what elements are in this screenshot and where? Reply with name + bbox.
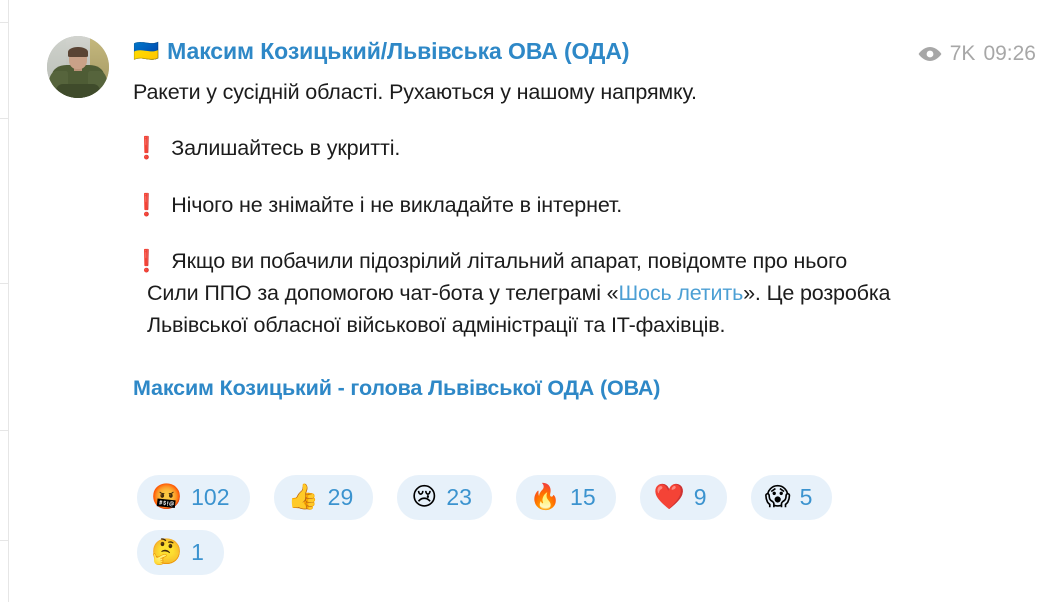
- post-signature: Максим Козицький - голова Львівської ОДА…: [133, 376, 893, 401]
- reaction-crying-face[interactable]: 😢 23: [397, 475, 492, 520]
- reaction-screaming-face[interactable]: 😱 5: [751, 475, 833, 520]
- reactions-bar: 🤬 102 👍 29 😢 23 🔥 15 ❤️ 9 😱 5 🤔 1: [137, 475, 937, 575]
- screaming-face-icon: 😱: [765, 485, 791, 510]
- rail-tick: [0, 283, 9, 284]
- reaction-count: 102: [191, 484, 229, 511]
- post-body: Ракети у сусідній області. Рухаються у н…: [133, 76, 893, 342]
- body-bullet-1-text: Залишайтесь в укритті.: [171, 136, 400, 160]
- avatar[interactable]: [47, 36, 109, 98]
- thumbs-up-icon: 👍: [288, 485, 319, 510]
- reaction-count: 29: [328, 484, 354, 511]
- reaction-count: 23: [446, 484, 472, 511]
- reaction-thumbs-up[interactable]: 👍 29: [274, 475, 374, 520]
- body-bullet-2: ❗ Нічого не знімайте і не викладайте в і…: [133, 189, 893, 221]
- cursing-face-icon: 🤬: [151, 485, 182, 510]
- body-bullet-2-text: Нічого не знімайте і не викладайте в інт…: [171, 193, 622, 217]
- thinking-face-icon: 🤔: [151, 540, 182, 565]
- spacer: [133, 165, 893, 189]
- reaction-cursing-face[interactable]: 🤬 102: [137, 475, 250, 520]
- avatar-hair: [68, 47, 88, 57]
- chatbot-link[interactable]: Шось летить: [618, 281, 743, 305]
- rail-tick: [0, 430, 9, 431]
- reaction-thinking-face[interactable]: 🤔 1: [137, 530, 224, 575]
- reaction-fire[interactable]: 🔥 15: [516, 475, 616, 520]
- rail-tick: [0, 118, 9, 119]
- rail-tick: [0, 540, 9, 541]
- reaction-count: 15: [570, 484, 596, 511]
- view-count: 7K: [950, 42, 976, 66]
- post-time: 09:26: [983, 42, 1036, 66]
- reaction-count: 5: [800, 484, 813, 511]
- message-post-screenshot: 7K 09:26 🇺🇦 Максим Козицький/Львівська О…: [0, 0, 1064, 602]
- post-meta: 7K 09:26: [918, 42, 1036, 66]
- reaction-count: 1: [191, 539, 204, 566]
- fire-icon: 🔥: [530, 485, 561, 510]
- spacer: [133, 221, 893, 245]
- exclamation-icon: ❗: [133, 136, 160, 160]
- body-line-intro: Ракети у сусідній області. Рухаються у н…: [133, 76, 893, 108]
- rail-tick: [0, 22, 9, 23]
- post-content: 🇺🇦 Максим Козицький/Львівська ОВА (ОДА) …: [133, 36, 893, 401]
- channel-name: Максим Козицький/Львівська ОВА (ОДА): [167, 38, 629, 65]
- avatar-arms: [56, 84, 101, 98]
- exclamation-icon: ❗: [133, 249, 160, 273]
- exclamation-icon: ❗: [133, 193, 160, 217]
- ukraine-flag-icon: 🇺🇦: [133, 41, 159, 62]
- crying-face-icon: 😢: [411, 485, 437, 510]
- spacer: [133, 108, 893, 132]
- eye-icon: [918, 46, 942, 62]
- scroll-rail[interactable]: [8, 0, 9, 602]
- reaction-red-heart[interactable]: ❤️ 9: [640, 475, 727, 520]
- reaction-count: 9: [694, 484, 707, 511]
- body-bullet-3: ❗ Якщо ви побачили підозрілий літальний …: [133, 245, 893, 342]
- channel-header[interactable]: 🇺🇦 Максим Козицький/Львівська ОВА (ОДА): [133, 36, 893, 66]
- red-heart-icon: ❤️: [654, 485, 685, 510]
- body-bullet-1: ❗ Залишайтесь в укритті.: [133, 132, 893, 164]
